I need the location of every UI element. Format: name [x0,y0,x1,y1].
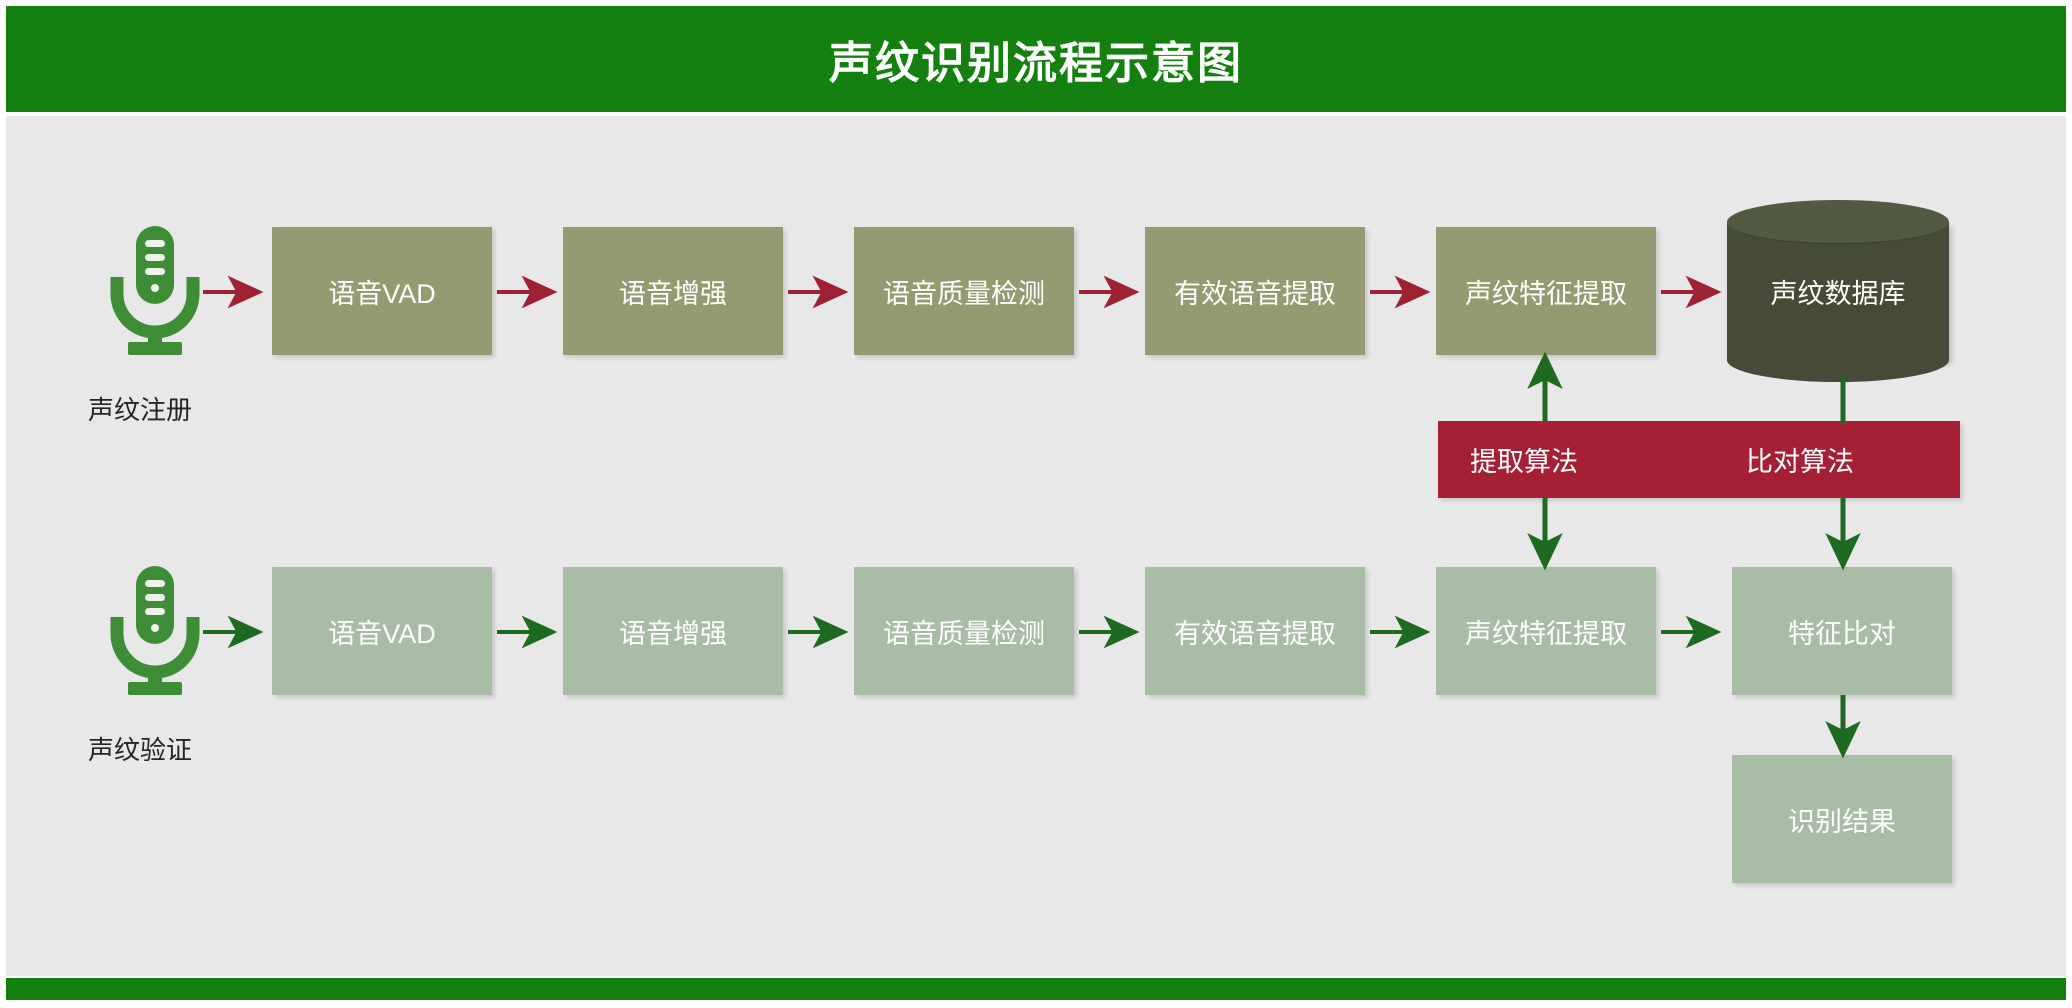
node-enroll-valid-speech[interactable]: 有效语音提取 [1145,227,1365,355]
diagram-canvas: 声纹识别流程示意图 [0,0,2072,1008]
node-label: 声纹特征提取 [1465,612,1627,651]
node-label: 语音VAD [328,272,436,311]
node-voiceprint-database[interactable]: 声纹数据库 [1727,200,1949,382]
node-label: 声纹特征提取 [1465,272,1627,311]
header-bar: 声纹识别流程示意图 [6,6,2066,112]
node-label: 语音增强 [619,272,727,311]
microphone-icon-verify [100,562,210,702]
lane-label-enroll: 声纹注册 [88,390,192,427]
algorithm-compare-label: 比对算法 [1746,440,1854,479]
node-label: 语音质量检测 [883,612,1045,651]
node-enroll-vad[interactable]: 语音VAD [272,227,492,355]
node-verify-feature-extract[interactable]: 声纹特征提取 [1436,567,1656,695]
node-recognition-result[interactable]: 识别结果 [1732,755,1952,883]
node-enroll-quality[interactable]: 语音质量检测 [854,227,1074,355]
footer-bar [6,978,2066,1000]
microphone-icon-enroll [100,222,210,362]
node-label: 声纹数据库 [1727,200,1949,382]
algorithm-extract-label: 提取算法 [1470,440,1578,479]
node-verify-enhance[interactable]: 语音增强 [563,567,783,695]
node-label: 特征比对 [1788,612,1896,651]
node-label: 有效语音提取 [1174,272,1336,311]
node-label: 有效语音提取 [1174,612,1336,651]
node-enroll-enhance[interactable]: 语音增强 [563,227,783,355]
node-label: 语音质量检测 [883,272,1045,311]
algorithm-bar[interactable]: 提取算法 比对算法 [1438,421,1960,498]
node-label: 语音增强 [619,612,727,651]
node-verify-vad[interactable]: 语音VAD [272,567,492,695]
node-verify-valid-speech[interactable]: 有效语音提取 [1145,567,1365,695]
lane-label-verify: 声纹验证 [88,730,192,767]
node-label: 语音VAD [328,612,436,651]
page-title: 声纹识别流程示意图 [829,27,1243,91]
node-verify-feature-compare[interactable]: 特征比对 [1732,567,1952,695]
node-verify-quality[interactable]: 语音质量检测 [854,567,1074,695]
node-label: 识别结果 [1788,800,1896,839]
node-enroll-feature-extract[interactable]: 声纹特征提取 [1436,227,1656,355]
